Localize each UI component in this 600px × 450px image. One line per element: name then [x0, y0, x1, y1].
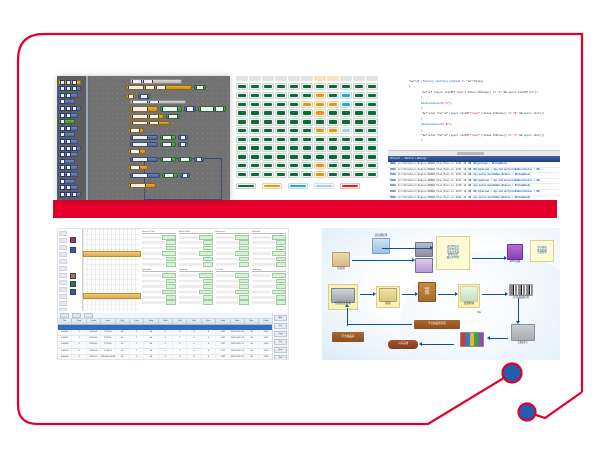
form-field-value[interactable] [239, 279, 249, 284]
table-column-header[interactable]: Std [173, 319, 187, 324]
status-cell[interactable] [288, 171, 300, 178]
flow-arrow [422, 344, 454, 345]
table-cell: ORD-03 [87, 342, 101, 347]
workspace-block[interactable] [130, 100, 186, 104]
block-field[interactable] [180, 157, 190, 162]
scrollbar-thumb[interactable] [457, 152, 485, 155]
palette-block[interactable] [58, 185, 78, 190]
status-cell[interactable] [314, 109, 326, 116]
form-field-value[interactable] [239, 240, 249, 245]
status-cell[interactable] [236, 83, 248, 90]
form-field-value[interactable] [203, 246, 213, 251]
status-cell[interactable] [327, 136, 339, 143]
block-field[interactable] [130, 183, 146, 188]
status-cell[interactable] [314, 118, 326, 125]
table-column-header[interactable]: Start [216, 319, 230, 324]
block-field[interactable] [130, 149, 140, 154]
form-field-value[interactable] [166, 246, 176, 251]
table-column-header[interactable]: Step [144, 319, 158, 324]
status-cell[interactable] [236, 153, 248, 160]
form-field-value[interactable] [199, 273, 213, 278]
status-cell[interactable] [262, 127, 274, 134]
status-cell[interactable] [288, 153, 300, 160]
status-cell[interactable] [249, 127, 261, 134]
form-field-value[interactable] [203, 300, 213, 305]
form-field-value[interactable] [239, 257, 249, 262]
status-cell[interactable] [288, 127, 300, 134]
block-field[interactable] [162, 106, 178, 111]
status-cell[interactable] [275, 136, 287, 143]
status-cell[interactable] [340, 171, 352, 178]
status-cell[interactable] [366, 171, 378, 178]
form-field-row [252, 290, 286, 295]
table-side-button[interactable]: Copy [274, 331, 287, 337]
status-cell[interactable] [262, 101, 274, 108]
status-cell[interactable] [275, 92, 287, 99]
workspace-block[interactable] [198, 106, 226, 112]
status-cell[interactable] [301, 92, 313, 99]
status-cell[interactable] [366, 144, 378, 151]
block-field[interactable] [145, 85, 155, 90]
status-cell[interactable] [262, 92, 274, 99]
status-cell[interactable] [340, 144, 352, 151]
workspace-block[interactable] [166, 114, 180, 119]
palette-block[interactable] [58, 132, 75, 137]
palette-block[interactable] [58, 192, 81, 197]
table-column-header[interactable]: Item [101, 319, 115, 324]
table-column-header[interactable]: Qty [116, 319, 130, 324]
workspace-block[interactable] [162, 173, 178, 178]
block-field[interactable] [132, 142, 148, 147]
palette-block[interactable] [58, 119, 75, 124]
status-cell[interactable] [366, 153, 378, 160]
status-cell[interactable] [366, 92, 378, 99]
block-field[interactable] [149, 114, 159, 119]
form-field-value[interactable] [162, 290, 176, 295]
status-cell[interactable] [353, 162, 365, 169]
status-cell[interactable] [366, 118, 378, 125]
flow-arrow-head [487, 336, 490, 340]
form-field-value[interactable] [203, 295, 213, 300]
block-field[interactable] [180, 135, 186, 140]
status-cell[interactable] [301, 136, 313, 143]
block-field[interactable] [215, 106, 224, 111]
workspace-block[interactable] [130, 121, 170, 125]
status-cell[interactable] [314, 127, 326, 134]
status-cell[interactable] [249, 101, 261, 108]
form-field-value[interactable] [276, 284, 286, 289]
status-cell[interactable] [301, 109, 313, 116]
block-field[interactable] [132, 135, 148, 140]
palette-block[interactable] [58, 165, 78, 170]
form-field-label [216, 285, 239, 288]
status-cell[interactable] [275, 101, 287, 108]
status-cell[interactable] [327, 153, 339, 160]
workspace-block[interactable] [126, 94, 136, 99]
status-cell[interactable] [301, 101, 313, 108]
workspace-block[interactable] [128, 128, 144, 133]
status-cell[interactable] [327, 118, 339, 125]
status-cell[interactable] [262, 136, 274, 143]
status-cell[interactable] [353, 118, 365, 125]
status-cell[interactable] [288, 101, 300, 108]
block-field[interactable] [156, 85, 166, 90]
status-cell[interactable] [340, 92, 352, 99]
gantt-resource-icon[interactable] [70, 281, 76, 287]
status-cell[interactable] [366, 83, 378, 90]
block-field[interactable] [149, 121, 159, 125]
toolbar-button[interactable] [60, 313, 69, 318]
block-field[interactable] [130, 128, 140, 133]
block-field[interactable] [128, 94, 134, 99]
status-cell[interactable] [249, 162, 261, 169]
workspace-block[interactable] [130, 173, 160, 178]
table-side-button[interactable]: Add [274, 315, 287, 321]
palette-block[interactable] [58, 159, 75, 164]
form-field-value[interactable] [276, 300, 286, 305]
block-field[interactable] [196, 157, 202, 162]
status-cell[interactable] [288, 162, 300, 169]
status-cell[interactable] [314, 162, 326, 169]
form-field-value[interactable] [239, 300, 249, 305]
form-field-value[interactable] [166, 284, 176, 289]
table-side-buttons[interactable]: AddEditCopyDelSaveExit [272, 313, 288, 359]
status-cell[interactable] [262, 162, 274, 169]
status-cell[interactable] [288, 92, 300, 99]
block-field[interactable] [149, 100, 159, 104]
status-cell[interactable] [236, 109, 248, 116]
form-field-value[interactable] [166, 257, 176, 262]
status-cell[interactable] [314, 171, 326, 178]
workspace-block[interactable] [160, 106, 182, 112]
status-cell[interactable] [366, 136, 378, 143]
status-cell[interactable] [353, 127, 365, 134]
status-cell[interactable] [353, 109, 365, 116]
block-field[interactable] [200, 106, 214, 111]
status-cell[interactable] [249, 153, 261, 160]
form-field-value[interactable] [239, 284, 249, 289]
status-cell[interactable] [301, 127, 313, 134]
status-cell-fill [264, 173, 272, 176]
status-cell[interactable] [275, 144, 287, 151]
block-field[interactable] [132, 157, 148, 162]
status-cell[interactable] [340, 127, 352, 134]
block-field[interactable] [132, 121, 148, 125]
workspace-block[interactable] [160, 135, 176, 140]
console-log-row[interactable]: INFOsrc/Scheduler/Engine/ORDER_Plan_Main… [388, 196, 560, 200]
table-cell: 0 [202, 330, 216, 335]
workspace-block[interactable] [160, 157, 176, 162]
block-field[interactable] [128, 85, 144, 90]
status-cell[interactable] [327, 127, 339, 134]
status-cell[interactable] [314, 92, 326, 99]
workspace-block[interactable] [160, 142, 176, 147]
palette-block[interactable] [58, 172, 78, 177]
palette-block[interactable] [58, 106, 81, 111]
gantt-resource-icon[interactable] [70, 273, 76, 279]
status-cell[interactable] [353, 83, 365, 90]
status-cell[interactable] [340, 101, 352, 108]
status-cell[interactable] [314, 83, 326, 90]
form-field-value[interactable] [166, 262, 176, 267]
table-side-button[interactable]: Exit [274, 355, 287, 359]
status-cell[interactable] [249, 171, 261, 178]
form-field-value[interactable] [166, 300, 176, 305]
form-field-value[interactable] [276, 257, 286, 262]
form-field-value[interactable] [203, 284, 213, 289]
status-cell[interactable] [236, 127, 248, 134]
status-cell[interactable] [353, 144, 365, 151]
status-cell-fill [264, 103, 272, 106]
block-field[interactable] [162, 135, 172, 140]
table-column-header[interactable]: Line [130, 319, 144, 324]
block-field[interactable] [140, 94, 148, 99]
form-field-value[interactable] [272, 251, 286, 256]
form-field-value[interactable] [199, 251, 213, 256]
table-cell: ORD-05 [87, 355, 101, 359]
status-cell[interactable] [353, 92, 365, 99]
gantt-resource-icon[interactable] [70, 289, 76, 295]
workspace-block[interactable] [138, 94, 150, 99]
table-column-header[interactable]: Run [202, 319, 216, 324]
form-field-value[interactable] [276, 295, 286, 300]
workspace-block[interactable] [184, 106, 196, 112]
status-cell[interactable] [288, 144, 300, 151]
status-cell[interactable] [236, 92, 248, 99]
status-cell[interactable] [288, 136, 300, 143]
status-cell[interactable] [366, 162, 378, 169]
block-field[interactable] [132, 100, 148, 104]
status-cell[interactable] [249, 83, 261, 90]
toolbar-button[interactable] [84, 313, 93, 318]
form-field-value[interactable] [239, 295, 249, 300]
block-field[interactable] [180, 142, 186, 147]
block-field[interactable] [164, 173, 174, 178]
form-field-value[interactable] [276, 279, 286, 284]
workspace-block[interactable] [130, 157, 158, 162]
status-cell[interactable] [249, 92, 261, 99]
status-cell[interactable] [366, 101, 378, 108]
status-cell[interactable] [353, 171, 365, 178]
status-cell[interactable] [262, 144, 274, 151]
block-field[interactable] [162, 157, 172, 162]
workspace-block[interactable] [194, 157, 204, 162]
form-field-value[interactable] [166, 279, 176, 284]
gantt-task-bar[interactable] [83, 293, 141, 299]
status-cell[interactable] [236, 136, 248, 143]
workspace-block[interactable] [130, 114, 164, 119]
status-cell[interactable] [353, 136, 365, 143]
form-field-value[interactable] [203, 279, 213, 284]
form-field-value[interactable] [235, 290, 249, 295]
palette-block[interactable] [58, 93, 78, 98]
form-field-value[interactable] [235, 251, 249, 256]
table-side-button[interactable]: Save [274, 347, 287, 353]
table-side-button[interactable]: Del [274, 339, 287, 345]
workspace-block[interactable] [130, 79, 182, 84]
form-field-value[interactable] [166, 295, 176, 300]
status-cell[interactable] [236, 171, 248, 178]
block-field[interactable] [143, 79, 153, 84]
form-field-value[interactable] [272, 273, 286, 278]
form-field-value[interactable] [199, 290, 213, 295]
block-field[interactable] [132, 173, 148, 178]
table-column-header[interactable]: Shift [159, 319, 173, 324]
status-cell[interactable] [314, 101, 326, 108]
form-field-value[interactable] [276, 246, 286, 251]
form-field-value[interactable] [199, 235, 213, 240]
form-field-value[interactable] [166, 240, 176, 245]
table-cell: 3 [173, 330, 187, 335]
form-field-value[interactable] [203, 257, 213, 262]
status-cell[interactable] [262, 118, 274, 125]
form-field-value[interactable] [239, 246, 249, 251]
workspace-block[interactable] [178, 135, 188, 140]
palette-block[interactable] [58, 126, 78, 131]
palette-block[interactable] [58, 99, 75, 104]
status-cell[interactable] [288, 83, 300, 90]
status-cell[interactable] [249, 144, 261, 151]
palette-block[interactable] [58, 152, 78, 157]
status-cell[interactable] [340, 136, 352, 143]
table-side-button[interactable]: Edit [274, 323, 287, 329]
form-field-value[interactable] [272, 290, 286, 295]
form-field-value[interactable] [276, 262, 286, 267]
status-cell[interactable] [275, 118, 287, 125]
status-cell[interactable] [327, 171, 339, 178]
status-cell[interactable] [249, 136, 261, 143]
workspace-block[interactable] [178, 142, 188, 147]
status-cell-fill [303, 103, 311, 106]
workspace-block[interactable] [130, 135, 158, 140]
status-cell[interactable] [301, 144, 313, 151]
workspace-block[interactable] [178, 157, 192, 162]
status-cell[interactable] [275, 153, 287, 160]
status-cell[interactable] [275, 171, 287, 178]
status-cell[interactable] [262, 153, 274, 160]
status-cell[interactable] [301, 153, 313, 160]
block-field[interactable] [186, 106, 194, 111]
palette-block[interactable] [58, 139, 78, 144]
workspace-block[interactable] [128, 165, 148, 170]
status-cell[interactable] [236, 101, 248, 108]
form-group: Capacity [179, 269, 213, 305]
status-cell[interactable] [275, 127, 287, 134]
status-cell[interactable] [327, 101, 339, 108]
block-field[interactable] [196, 85, 204, 90]
workspace-block[interactable] [130, 106, 158, 112]
status-cell[interactable] [314, 136, 326, 143]
form-field-value[interactable] [162, 235, 176, 240]
form-field-value[interactable] [162, 273, 176, 278]
status-cell[interactable] [262, 171, 274, 178]
palette-block[interactable] [58, 146, 81, 151]
status-cell[interactable] [366, 127, 378, 134]
table-column-header[interactable]: Res [245, 319, 259, 324]
table-column-header[interactable]: Seq [72, 319, 86, 324]
status-cell[interactable] [301, 118, 313, 125]
status-cell[interactable] [288, 118, 300, 125]
status-cell[interactable] [327, 109, 339, 116]
block-field[interactable] [132, 106, 148, 111]
table-column-header[interactable]: Order [87, 319, 101, 324]
gantt-resource-icon[interactable] [70, 247, 76, 253]
status-cell[interactable] [249, 109, 261, 116]
block-field[interactable] [168, 114, 178, 119]
gantt-resource-icon[interactable] [70, 237, 76, 243]
status-cell[interactable] [275, 109, 287, 116]
block-field[interactable] [132, 114, 148, 119]
status-cell[interactable] [236, 118, 248, 125]
status-cell[interactable] [301, 171, 313, 178]
palette-block[interactable] [58, 179, 75, 184]
toolbar-button[interactable] [72, 313, 81, 318]
workspace-block[interactable] [128, 183, 156, 188]
workspace-block[interactable] [180, 173, 190, 178]
status-cell[interactable] [340, 162, 352, 169]
status-cell[interactable] [353, 101, 365, 108]
form-field-value[interactable] [272, 235, 286, 240]
status-cell[interactable] [301, 83, 313, 90]
workspace-block[interactable] [130, 142, 158, 147]
form-field-value[interactable] [276, 240, 286, 245]
status-cell[interactable] [340, 109, 352, 116]
status-cell[interactable] [327, 83, 339, 90]
status-cell[interactable] [327, 144, 339, 151]
table-column-header[interactable]: No [58, 319, 72, 324]
status-cell[interactable] [301, 162, 313, 169]
status-cell[interactable] [366, 109, 378, 116]
workspace-block[interactable] [194, 85, 206, 90]
table-row[interactable]: 1000055ORD-05PR0083-41285801802400719720… [58, 355, 288, 359]
palette-block[interactable] [58, 80, 81, 85]
status-cell[interactable] [288, 109, 300, 116]
block-field[interactable] [162, 142, 172, 147]
workspace-block[interactable] [126, 85, 192, 90]
status-cell[interactable] [262, 83, 274, 90]
status-cell[interactable] [314, 144, 326, 151]
status-cell[interactable] [340, 153, 352, 160]
status-cell[interactable] [249, 118, 261, 125]
status-cell[interactable] [236, 144, 248, 151]
status-cell[interactable] [275, 162, 287, 169]
status-cell[interactable] [327, 162, 339, 169]
status-cell[interactable] [236, 162, 248, 169]
form-field-value[interactable] [235, 235, 249, 240]
table-column-header[interactable]: End [231, 319, 245, 324]
form-field-value[interactable] [239, 262, 249, 267]
status-cell[interactable] [314, 153, 326, 160]
status-cell[interactable] [353, 153, 365, 160]
status-cell[interactable] [327, 92, 339, 99]
block-field[interactable] [132, 79, 142, 84]
form-field-value[interactable] [203, 240, 213, 245]
gantt-task-bar[interactable] [83, 251, 141, 257]
status-cell[interactable] [262, 109, 274, 116]
form-field-value[interactable] [203, 262, 213, 267]
form-field-value[interactable] [162, 251, 176, 256]
table-column-header[interactable]: Set [187, 319, 201, 324]
status-cell[interactable] [275, 83, 287, 90]
workspace-block[interactable] [128, 149, 146, 154]
block-field[interactable] [130, 165, 140, 170]
status-cell[interactable] [340, 118, 352, 125]
form-field-value[interactable] [235, 273, 249, 278]
status-cell[interactable] [340, 83, 352, 90]
block-field[interactable] [182, 173, 188, 178]
palette-block[interactable] [58, 113, 78, 118]
palette-block[interactable] [58, 86, 81, 91]
